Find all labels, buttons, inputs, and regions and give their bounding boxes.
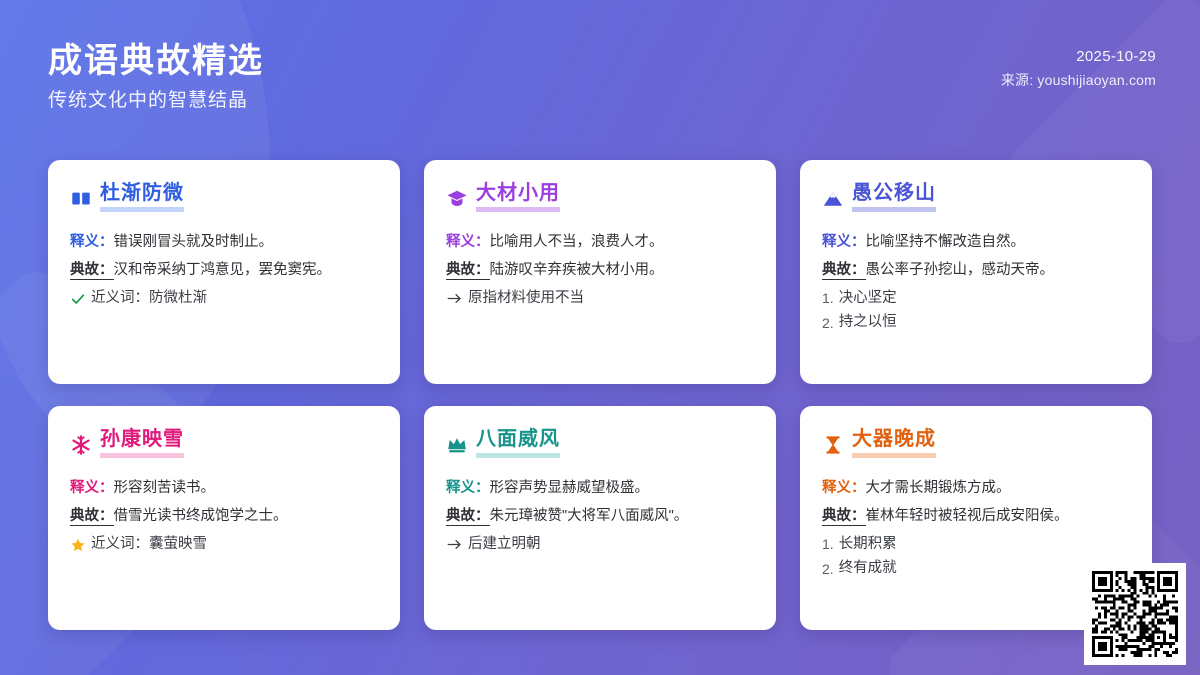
- card-title-text: 杜渐防微: [100, 182, 184, 212]
- allusion-label: 典故：: [446, 262, 490, 280]
- card-title: 孙康映雪: [100, 428, 184, 461]
- card-note-row: 后建立明朝: [446, 533, 754, 556]
- allusion-text: 朱元璋被赞"大将军八面威风"。: [490, 508, 689, 524]
- definition-row: 释义：比喻坚持不懈改造自然。: [822, 231, 1130, 254]
- allusion-row: 典故：愚公率子孙挖山，感动天帝。: [822, 259, 1130, 282]
- hourglass-icon: [822, 434, 844, 456]
- card-list-text: 决心坚定: [839, 287, 897, 310]
- allusion-text: 崔林年轻时被轻视后成安阳侯。: [866, 508, 1069, 524]
- graduation-cap-icon: [446, 188, 468, 210]
- definition-row: 释义：比喻用人不当，浪费人才。: [446, 231, 754, 254]
- definition-label: 释义：: [822, 480, 866, 496]
- allusion-text: 借雪光读书终成饱学之士。: [114, 508, 288, 524]
- allusion-row: 典故：汉和帝采纳丁鸿意见，罢免窦宪。: [70, 259, 378, 282]
- list-number: 2.: [822, 558, 834, 581]
- card-header: 大材小用: [446, 182, 754, 215]
- definition-text: 比喻坚持不懈改造自然。: [866, 234, 1026, 250]
- poster-header: 成语典故精选 传统文化中的智慧结晶 2025-10-29 来源: youshij…: [0, 0, 1200, 150]
- meta-block: 2025-10-29 来源: youshijiaoyan.com: [1001, 46, 1156, 92]
- card-title: 大器晚成: [852, 428, 936, 461]
- qr-code-image: [1092, 571, 1178, 657]
- idiom-card[interactable]: 大材小用释义：比喻用人不当，浪费人才。典故：陆游叹辛弃疾被大材小用。原指材料使用…: [424, 160, 776, 384]
- card-list-item: 2.持之以恒: [822, 311, 1130, 334]
- definition-text: 大才需长期锻炼方成。: [866, 480, 1011, 496]
- card-header: 大器晚成: [822, 428, 1130, 461]
- allusion-row: 典故：朱元璋被赞"大将军八面威风"。: [446, 505, 754, 528]
- definition-row: 释义：大才需长期锻炼方成。: [822, 477, 1130, 500]
- qr-code[interactable]: [1084, 563, 1186, 665]
- check-icon: [70, 291, 86, 307]
- definition-text: 形容刻苦读书。: [114, 480, 216, 496]
- mountain-icon: [822, 188, 844, 210]
- allusion-text: 陆游叹辛弃疾被大材小用。: [490, 262, 664, 278]
- definition-text: 形容声势显赫威望极盛。: [490, 480, 650, 496]
- card-list-item: 1.决心坚定: [822, 287, 1130, 310]
- book-icon: [70, 188, 92, 210]
- page-subtitle: 传统文化中的智慧结晶: [48, 89, 264, 114]
- card-title-text: 愚公移山: [852, 182, 936, 212]
- allusion-label: 典故：: [70, 508, 114, 526]
- definition-label: 释义：: [446, 480, 490, 496]
- card-note-text: 近义词：防微杜渐: [91, 287, 207, 310]
- poster-root: 成语典故精选 传统文化中的智慧结晶 2025-10-29 来源: youshij…: [0, 0, 1200, 675]
- card-list-text: 长期积累: [839, 533, 897, 556]
- card-title-text: 八面威风: [476, 428, 560, 458]
- card-note-text: 近义词：囊萤映雪: [91, 533, 207, 556]
- definition-row: 释义：形容声势显赫威望极盛。: [446, 477, 754, 500]
- allusion-row: 典故：崔林年轻时被轻视后成安阳侯。: [822, 505, 1130, 528]
- idiom-card-grid: 杜渐防微释义：错误刚冒头就及时制止。典故：汉和帝采纳丁鸿意见，罢免窦宪。近义词：…: [48, 160, 1152, 630]
- card-list-text: 持之以恒: [839, 311, 897, 334]
- card-title: 杜渐防微: [100, 182, 184, 215]
- list-number: 2.: [822, 312, 834, 335]
- definition-label: 释义：: [70, 234, 114, 250]
- card-note-text: 后建立明朝: [468, 533, 541, 556]
- definition-text: 错误刚冒头就及时制止。: [114, 234, 274, 250]
- definition-label: 释义：: [70, 480, 114, 496]
- arrow-right-icon: [446, 536, 463, 553]
- allusion-text: 愚公率子孙挖山，感动天帝。: [866, 262, 1055, 278]
- allusion-row: 典故：借雪光读书终成饱学之士。: [70, 505, 378, 528]
- crown-icon: [446, 434, 468, 456]
- allusion-label: 典故：: [822, 262, 866, 280]
- card-title: 愚公移山: [852, 182, 936, 215]
- definition-label: 释义：: [446, 234, 490, 250]
- allusion-row: 典故：陆游叹辛弃疾被大材小用。: [446, 259, 754, 282]
- card-header: 八面威风: [446, 428, 754, 461]
- definition-row: 释义：错误刚冒头就及时制止。: [70, 231, 378, 254]
- idiom-card[interactable]: 八面威风释义：形容声势显赫威望极盛。典故：朱元璋被赞"大将军八面威风"。后建立明…: [424, 406, 776, 630]
- card-title-text: 孙康映雪: [100, 428, 184, 458]
- idiom-card[interactable]: 杜渐防微释义：错误刚冒头就及时制止。典故：汉和帝采纳丁鸿意见，罢免窦宪。近义词：…: [48, 160, 400, 384]
- card-title: 八面威风: [476, 428, 560, 461]
- date-text: 2025-10-29: [1001, 46, 1156, 69]
- idiom-card[interactable]: 愚公移山释义：比喻坚持不懈改造自然。典故：愚公率子孙挖山，感动天帝。1.决心坚定…: [800, 160, 1152, 384]
- card-note-row: 原指材料使用不当: [446, 287, 754, 310]
- allusion-label: 典故：: [446, 508, 490, 526]
- star-icon: [70, 537, 86, 553]
- title-block: 成语典故精选 传统文化中的智慧结晶: [48, 40, 264, 113]
- idiom-card[interactable]: 孙康映雪释义：形容刻苦读书。典故：借雪光读书终成饱学之士。近义词：囊萤映雪: [48, 406, 400, 630]
- list-number: 1.: [822, 287, 834, 310]
- card-note-row: 近义词：防微杜渐: [70, 287, 378, 310]
- list-number: 1.: [822, 533, 834, 556]
- page-title: 成语典故精选: [48, 40, 264, 83]
- allusion-label: 典故：: [822, 508, 866, 526]
- source-text: 来源: youshijiaoyan.com: [1001, 69, 1156, 93]
- arrow-right-icon: [446, 290, 463, 307]
- definition-row: 释义：形容刻苦读书。: [70, 477, 378, 500]
- card-list-text: 终有成就: [839, 557, 897, 580]
- card-list-item: 1.长期积累: [822, 533, 1130, 556]
- card-note-row: 近义词：囊萤映雪: [70, 533, 378, 556]
- card-title-text: 大材小用: [476, 182, 560, 212]
- definition-text: 比喻用人不当，浪费人才。: [490, 234, 664, 250]
- allusion-text: 汉和帝采纳丁鸿意见，罢免窦宪。: [114, 262, 332, 278]
- card-header: 杜渐防微: [70, 182, 378, 215]
- card-title-text: 大器晚成: [852, 428, 936, 458]
- snowflake-icon: [70, 434, 92, 456]
- allusion-label: 典故：: [70, 262, 114, 280]
- card-title: 大材小用: [476, 182, 560, 215]
- card-header: 愚公移山: [822, 182, 1130, 215]
- definition-label: 释义：: [822, 234, 866, 250]
- card-note-text: 原指材料使用不当: [468, 287, 584, 310]
- card-header: 孙康映雪: [70, 428, 378, 461]
